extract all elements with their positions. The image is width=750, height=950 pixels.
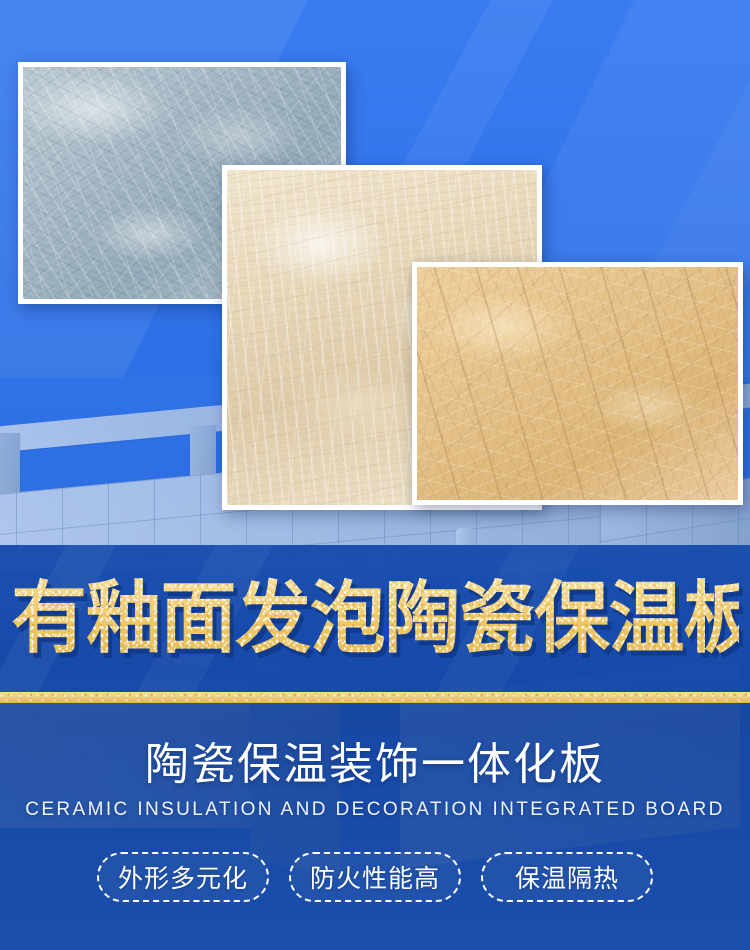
subtitle-english: CERAMIC INSULATION AND DECORATION INTEGR… [0, 798, 750, 822]
subtitle-chinese: 陶瓷保温装饰一体化板 [0, 740, 750, 790]
product-banner: 有釉面发泡陶瓷保温板 陶瓷保温装饰一体化板 CERAMIC INSULATION… [0, 0, 750, 950]
gold-divider [0, 692, 750, 703]
tile-surface-golden [417, 267, 738, 500]
feature-tag-list: 外形多元化 防火性能高 保温隔热 [0, 852, 750, 902]
feature-tag-shape-diversity: 外形多元化 [97, 852, 269, 902]
feature-tag-thermal-insulation: 保温隔热 [481, 852, 653, 902]
feature-tag-fire-resistance: 防火性能高 [289, 852, 461, 902]
tile-image-golden-marble [412, 262, 743, 505]
main-title: 有釉面发泡陶瓷保温板 [11, 577, 739, 659]
